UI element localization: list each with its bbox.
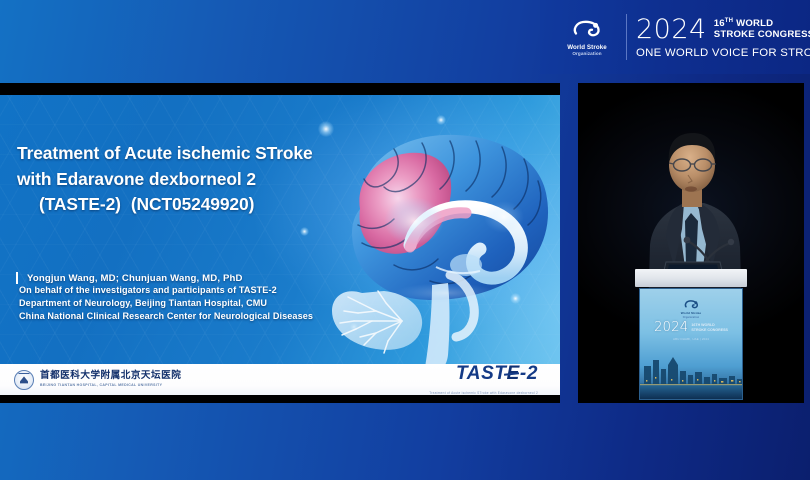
hospital-name-cn: 首都医科大学附属北京天坛医院 (40, 371, 181, 382)
podium-wso-logo: World Stroke Organization (640, 298, 742, 319)
sparkle-icon (436, 115, 446, 125)
podium-top-surface (635, 269, 747, 287)
podium-year-row: 2024 16TH WORLD STROKE CONGRESS (640, 321, 742, 334)
taste2-logo-tagline: Treatment of Acute ischemic STroke with … (429, 391, 538, 395)
congress-title: 16TH WORLD STROKE CONGRESS (714, 18, 810, 39)
affiliation-line-1: On behalf of the investigators and parti… (19, 284, 406, 297)
affiliation-line-2: Department of Neurology, Beijing Tiantan… (19, 297, 406, 310)
congress-subtitle: STROKE CONGRESS (714, 30, 810, 40)
sparkle-icon (350, 323, 358, 331)
author-accent-bar (16, 272, 18, 284)
slide-title-line-1: Treatment of Acute ischemic STroke (17, 141, 365, 167)
congress-world-word: WORLD (733, 19, 773, 30)
podium-congress-title: 16TH WORLD STROKE CONGRESS (691, 323, 728, 331)
slide-title-study-acronym: (TASTE-2) (39, 194, 121, 214)
slide-title-registration-id: (NCT05249920) (131, 194, 254, 214)
taste2-wordmark-prefix: TAST (456, 363, 507, 384)
hospital-seal-icon (14, 370, 34, 390)
hospital-name-block: 首都医科大学附属北京天坛医院 BEIJING TIANTAN HOSPITAL,… (40, 371, 181, 387)
congress-tagline: ONE WORLD VOICE FOR STROKE (636, 47, 810, 59)
hospital-logo: 首都医科大学附属北京天坛医院 BEIJING TIANTAN HOSPITAL,… (14, 370, 181, 390)
podium-wso-sub: Organization (640, 316, 742, 319)
slide-title-line-3: (TASTE-2)(NCT05249920) (17, 192, 365, 218)
author-names-row: Yongjun Wang, MD; Chunjuan Wang, MD, PhD (16, 272, 406, 284)
podium-venue: ABU DHABI, UAE | 2024 (640, 337, 742, 341)
slide-panel: Treatment of Acute ischemic STroke with … (0, 83, 560, 403)
congress-banner: World Stroke Organization 2024 16TH WORL… (540, 0, 810, 74)
congress-edition-ordinal: TH (725, 18, 733, 24)
sparkle-icon (476, 191, 490, 205)
podium: World Stroke Organization 2024 16TH WORL… (635, 269, 747, 401)
author-names: Yongjun Wang, MD; Chunjuan Wang, MD, PhD (27, 273, 243, 284)
banner-divider (626, 14, 627, 60)
slide-title: Treatment of Acute ischemic STroke with … (17, 141, 365, 218)
world-stroke-swirl-icon (570, 18, 604, 42)
wso-name-line2: Organization (572, 51, 601, 56)
slide-footer: 首都医科大学附属北京天坛医院 BEIJING TIANTAN HOSPITAL,… (0, 364, 560, 395)
sparkle-icon (510, 293, 521, 304)
sparkle-icon (300, 227, 309, 236)
congress-year: 2024 (636, 16, 707, 43)
affiliation-line-3: China National Clinical Research Center … (19, 310, 406, 323)
taste2-wordmark: TASTE-2 (456, 364, 538, 383)
podium-congress-line-2: STROKE CONGRESS (691, 328, 728, 332)
podium-year: 2024 (654, 321, 688, 334)
brain-sagittal-illustration-icon (298, 97, 560, 379)
stage-scene: World Stroke Organization 2024 16TH WORL… (578, 83, 804, 403)
sparkle-icon (392, 153, 404, 165)
hospital-name-en: BEIJING TIANTAN HOSPITAL, CAPITAL MEDICA… (40, 383, 181, 387)
city-skyline-icon (640, 353, 742, 399)
slide-title-line-2: with Edaravone dexborneol 2 (17, 167, 365, 193)
sparkle-icon (318, 121, 334, 137)
author-block: Yongjun Wang, MD; Chunjuan Wang, MD, PhD… (16, 272, 406, 323)
slide-background-texture (0, 95, 560, 395)
taste2-swoosh-icon (452, 384, 538, 390)
congress-edition-number: 16 (714, 19, 725, 30)
world-stroke-organization-logo: World Stroke Organization (550, 18, 624, 56)
presentation-stream-view: World Stroke Organization 2024 16TH WORL… (0, 0, 810, 480)
taste2-study-logo: TASTE-2 Treatment of Acute ischemic STro… (429, 364, 538, 395)
podium-wso-name: World Stroke (640, 311, 742, 315)
presentation-slide: Treatment of Acute ischemic STroke with … (0, 95, 560, 395)
world-stroke-swirl-icon (683, 298, 700, 310)
podium-banner: World Stroke Organization 2024 16TH WORL… (639, 288, 743, 400)
taste2-wordmark-e: E (507, 364, 520, 383)
taste2-wordmark-suffix: -2 (520, 363, 538, 384)
wso-name-line1: World Stroke (567, 44, 607, 51)
speaker-video-panel[interactable]: World Stroke Organization 2024 16TH WORL… (578, 83, 804, 403)
banner-text-block: 2024 16TH WORLD STROKE CONGRESS ONE WORL… (636, 16, 810, 59)
